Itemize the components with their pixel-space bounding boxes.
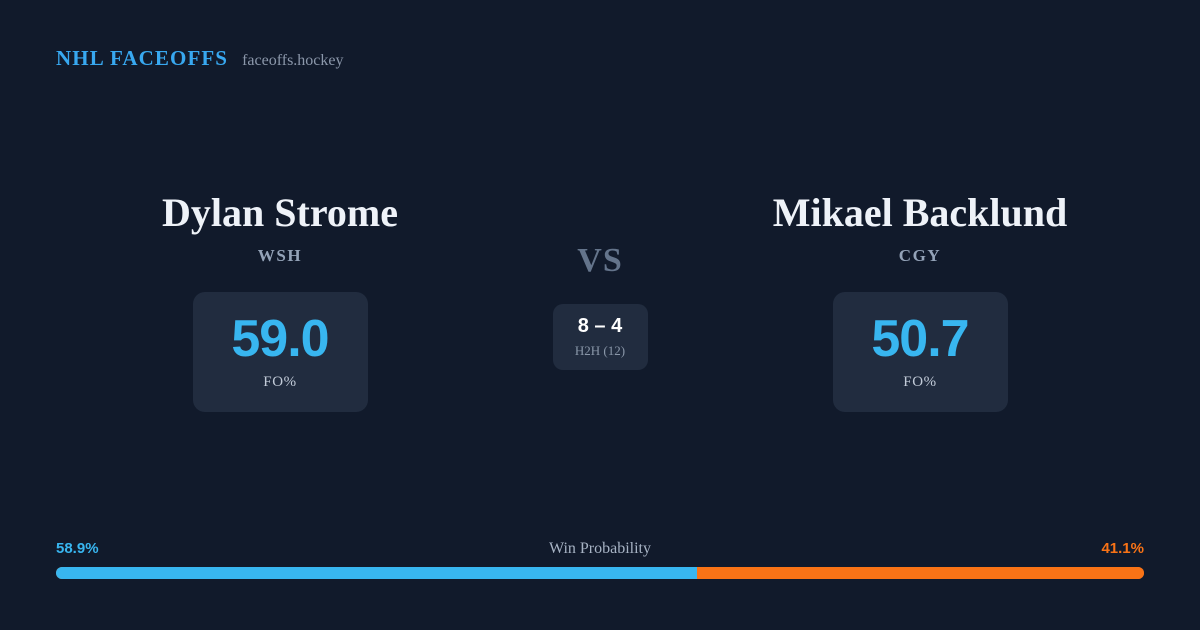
win-probability-bar-right [697, 567, 1144, 579]
player-away-stat-value: 50.7 [871, 313, 968, 365]
player-away-stat-card: 50.7 FO% [833, 292, 1008, 412]
win-probability-bar [56, 567, 1144, 579]
player-home-team: WSH [258, 246, 302, 266]
faceoff-matchup-card: NHL FACEOFFS faceoffs.hockey Dylan Strom… [0, 0, 1200, 630]
player-home: Dylan Strome WSH 59.0 FO% [40, 190, 520, 412]
win-probability-right-value: 41.1% [1101, 540, 1144, 557]
player-away: Mikael Backlund CGY 50.7 FO% [680, 190, 1160, 412]
player-home-stat-value: 59.0 [231, 313, 328, 365]
brand-title: NHL FACEOFFS [56, 46, 228, 71]
header: NHL FACEOFFS faceoffs.hockey [56, 46, 344, 71]
brand-site: faceoffs.hockey [242, 52, 343, 70]
versus-section: VS 8 – 4 H2H (12) [520, 190, 680, 370]
versus-label: VS [577, 244, 622, 278]
player-away-name: Mikael Backlund [773, 190, 1068, 236]
player-away-stat-label: FO% [903, 374, 936, 391]
win-probability-section: 58.9% Win Probability 41.1% [56, 540, 1144, 579]
head-to-head-label: H2H (12) [575, 343, 625, 359]
win-probability-bar-left [56, 567, 697, 579]
player-home-name: Dylan Strome [162, 190, 398, 236]
win-probability-labels: 58.9% Win Probability 41.1% [56, 540, 1144, 558]
player-home-stat-label: FO% [263, 374, 296, 391]
win-probability-title: Win Probability [549, 540, 651, 558]
head-to-head-card: 8 – 4 H2H (12) [553, 304, 648, 370]
win-probability-left-value: 58.9% [56, 540, 99, 557]
player-away-team: CGY [899, 246, 942, 266]
head-to-head-score: 8 – 4 [578, 316, 622, 336]
matchup-section: Dylan Strome WSH 59.0 FO% VS 8 – 4 H2H (… [0, 190, 1200, 412]
player-home-stat-card: 59.0 FO% [193, 292, 368, 412]
